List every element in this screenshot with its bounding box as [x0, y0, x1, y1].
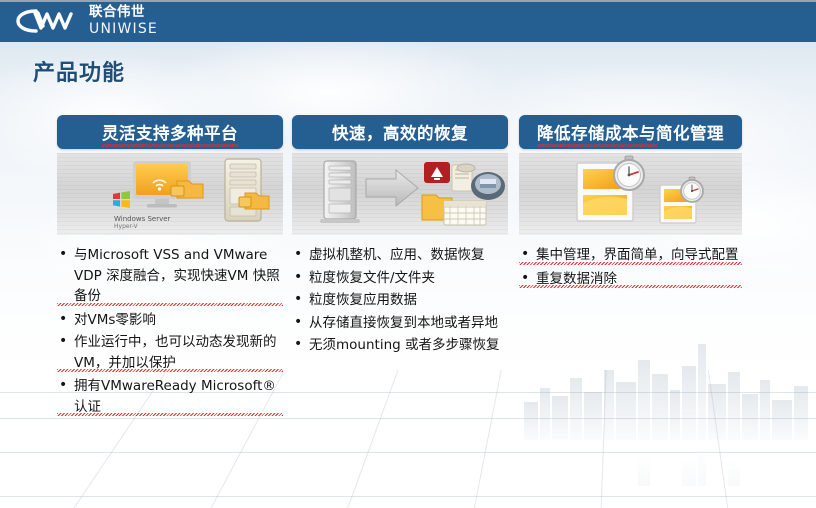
list-item: 重复数据消除	[519, 269, 742, 291]
list-item: 粒度恢复应用数据	[292, 290, 508, 311]
list-item: 虚拟机整机、应用、数据恢复	[292, 245, 508, 266]
list-item: 从存储直接恢复到本地或者异地	[292, 313, 508, 334]
uniwise-w-logo-icon	[14, 6, 80, 36]
brand-header-bar: 联合伟世 UNIWISE	[0, 2, 816, 42]
documents-with-stopwatch-compression-icon	[519, 153, 742, 235]
column-header-label: 快速，高效的恢复	[332, 120, 468, 144]
list-item: 对VMs零影响	[57, 310, 283, 331]
list-item: 粒度恢复文件/文件夹	[292, 268, 508, 289]
svg-text:Windows Server: Windows Server	[114, 215, 171, 223]
page-title: 产品功能	[33, 55, 125, 87]
spellcheck-squiggle	[537, 144, 657, 147]
column-header-storage[interactable]: 降低存储成本与简化管理	[519, 115, 742, 149]
column-header-recovery[interactable]: 快速，高效的恢复	[292, 115, 508, 149]
column-illustration-storage	[519, 153, 742, 235]
brand-logo: 联合伟世 UNIWISE	[14, 6, 158, 36]
list-item: 集中管理，界面简单，向导式配置	[519, 245, 742, 267]
column-header-platforms[interactable]: 灵活支持多种平台	[57, 115, 283, 149]
column-illustration-recovery	[292, 153, 508, 235]
server-arrow-to-files-and-apps-icon	[292, 153, 508, 235]
slide-canvas: 联合伟世 UNIWISE 产品功能 灵活支持多种平台	[0, 0, 816, 508]
bullet-list-recovery: 虚拟机整机、应用、数据恢复 粒度恢复文件/文件夹 粒度恢复应用数据 从存储直接恢…	[292, 245, 508, 358]
brand-name-cn: 联合伟世	[89, 6, 158, 20]
list-item: 与Microsoft VSS and VMware VDP 深度融合，实现快速V…	[57, 245, 283, 308]
bullet-list-platforms: 与Microsoft VSS and VMware VDP 深度融合，实现快速V…	[57, 245, 283, 420]
list-item: 拥有VMwareReady Microsoft® 认证	[57, 376, 283, 418]
bullet-list-storage: 集中管理，界面简单，向导式配置 重复数据消除	[519, 245, 742, 292]
spellcheck-squiggle	[102, 144, 238, 147]
svg-text:Hyper-V: Hyper-V	[114, 223, 138, 230]
list-item: 无须mounting 或者多步骤恢复	[292, 335, 508, 356]
brand-name-en: UNIWISE	[89, 22, 158, 36]
column-header-label: 降低存储成本与简化管理	[537, 120, 724, 144]
column-header-label: 灵活支持多种平台	[102, 120, 238, 144]
column-illustration-platforms: Windows Server Hyper-V	[57, 153, 283, 235]
monitor-windows-server-hyperv-and-server-tower-icon: Windows Server Hyper-V	[57, 153, 283, 235]
list-item: 作业运行中，也可以动态发现新的VM，并加以保护	[57, 332, 283, 374]
